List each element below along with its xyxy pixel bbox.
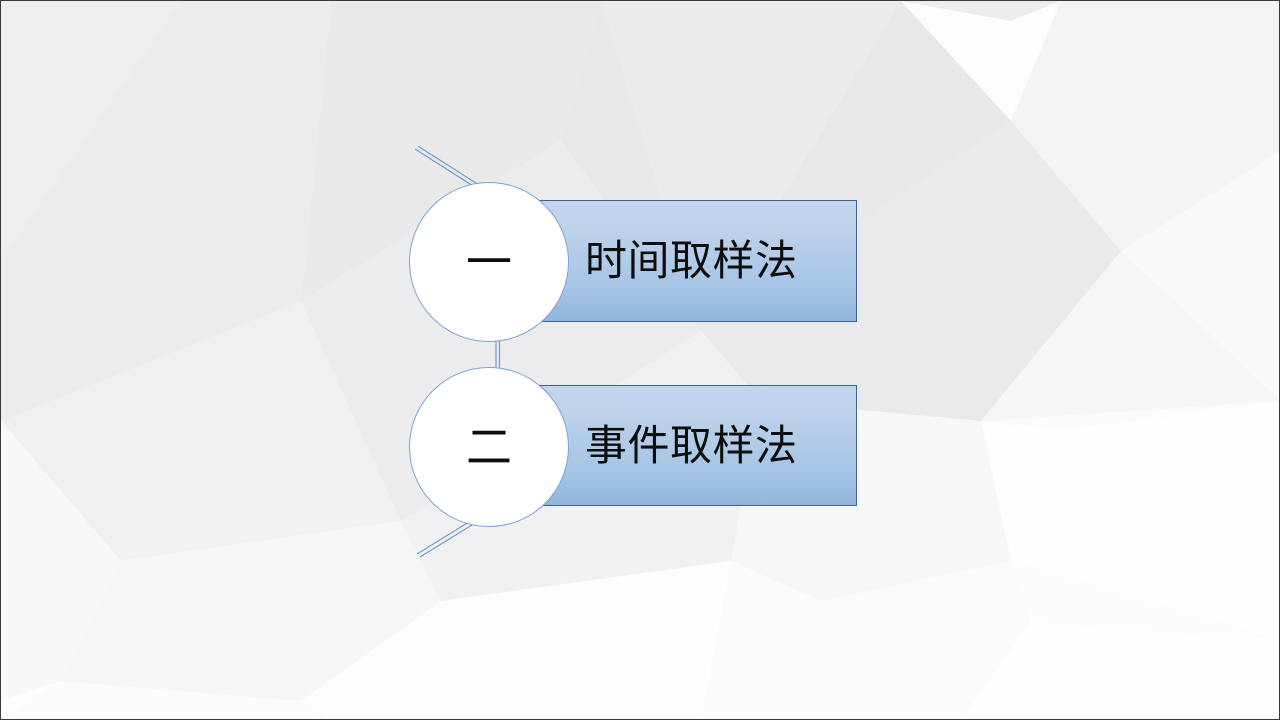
decorative-connector-lines [1,1,1280,720]
list-item-bar-1[interactable]: 时间取样法 [531,200,857,322]
list-item-number-1: 一 [466,239,512,285]
list-item-number-2: 二 [466,424,512,470]
list-item-bar-2[interactable]: 事件取样法 [531,385,857,506]
presentation-slide: 时间取样法 一 事件取样法 二 [0,0,1280,720]
list-item-number-circle-1[interactable]: 一 [409,182,569,342]
list-item-label-2: 事件取样法 [585,425,798,467]
circle-connector-icon [496,337,500,371]
two-item-list-diagram: 时间取样法 一 事件取样法 二 [1,1,1280,720]
list-item-label-1: 时间取样法 [585,240,798,282]
list-item-number-circle-2[interactable]: 二 [409,367,569,527]
